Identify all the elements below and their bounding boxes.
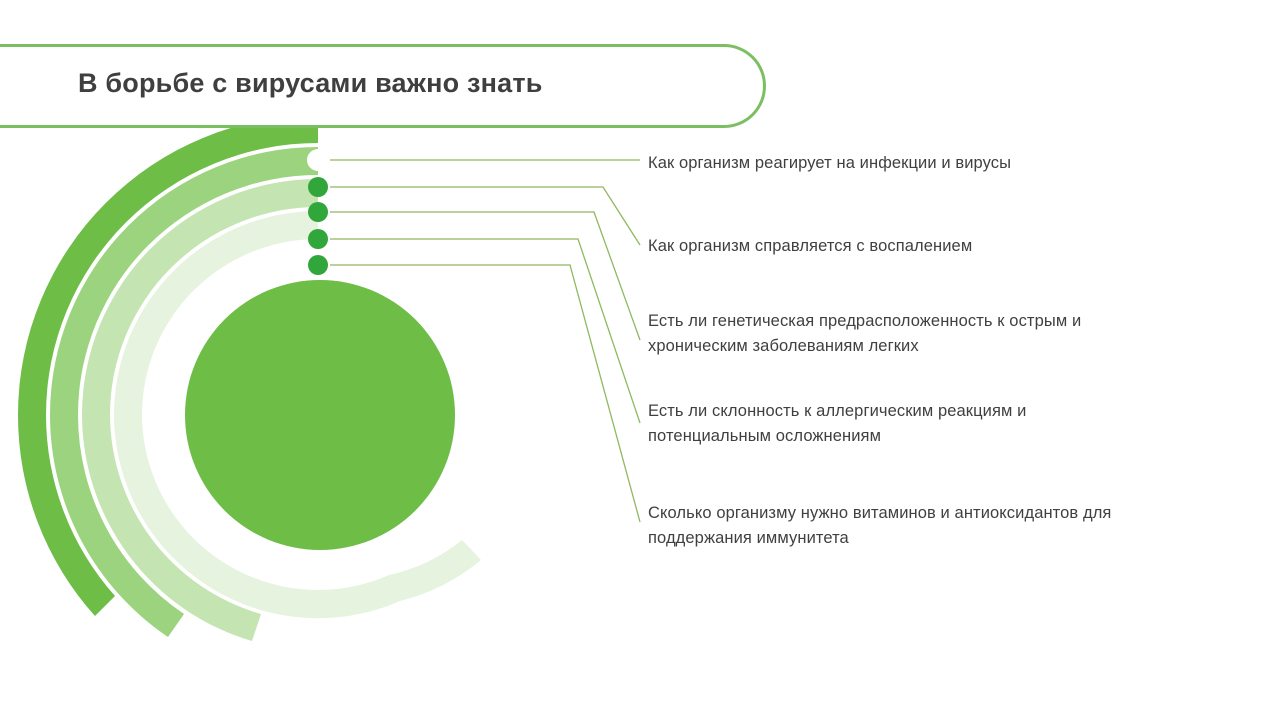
node-dot-3[interactable]: [308, 229, 328, 249]
page-title: В борьбе с вирусами важно знать: [78, 68, 758, 99]
node-dot-0[interactable]: [307, 149, 329, 171]
ring-inner-arc: [114, 211, 400, 618]
ring-inner-arc-tail: [389, 540, 481, 601]
connector-line-3: [330, 239, 640, 423]
node-dot-4[interactable]: [308, 255, 328, 275]
connector-line-2: [330, 212, 640, 340]
node-dot-1[interactable]: [308, 177, 328, 197]
ring-3-arc: [82, 179, 318, 641]
center-circle: [185, 280, 455, 550]
ring-outer-arc: [18, 115, 318, 415]
node-dot-2[interactable]: [308, 202, 328, 222]
list-item-label-4: Сколько организму нужно витаминов и анти…: [648, 501, 1138, 551]
connector-line-4: [330, 265, 640, 522]
slide-canvas: В борьбе с вирусами важно знать Как орга…: [0, 0, 1280, 720]
ring-outer-arc-lower: [18, 415, 115, 616]
ring-2-arc: [50, 147, 318, 637]
list-item-label-2: Есть ли генетическая предрасположенность…: [648, 309, 1118, 359]
list-item-label-1: Как организм справляется с воспалением: [648, 234, 1148, 259]
list-item-label-0: Как организм реагирует на инфекции и вир…: [648, 151, 1148, 176]
list-item-label-3: Есть ли склонность к аллергическим реакц…: [648, 399, 1128, 449]
connector-line-1: [330, 187, 640, 245]
connector-lines: [330, 160, 640, 522]
